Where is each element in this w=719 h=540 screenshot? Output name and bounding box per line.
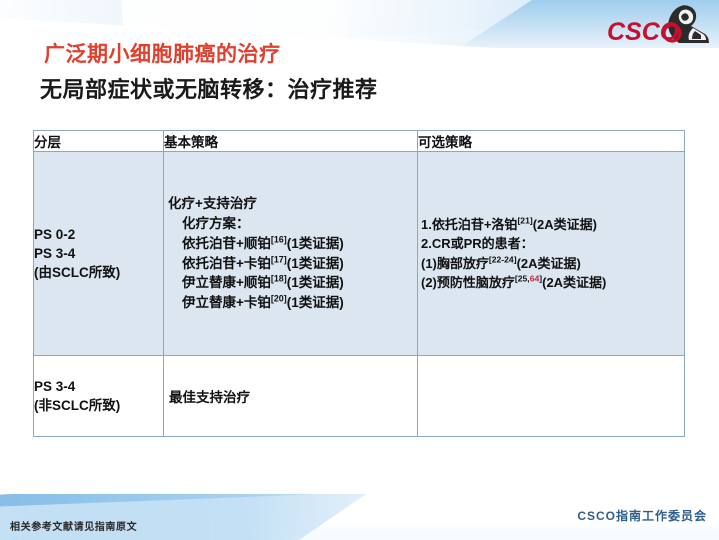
optional-prefix: (2) [421, 275, 437, 290]
cell-optional-strategy: 1.依托泊苷+洛铂[21](2A类证据) 2.CR或PR的患者： (1)胸部放疗… [418, 152, 685, 356]
optional-ref: [21] [517, 216, 532, 226]
stratum-lines: PS 0-2 PS 3-4 (由SCLC所致) [34, 225, 163, 282]
ref-highlight: 64 [530, 273, 540, 283]
stratum-lines: PS 3-4 (非SCLC所致) [34, 377, 163, 415]
stratum-line: PS 3-4 [34, 377, 163, 396]
basic-strategy-simple: 最佳支持治疗 [164, 386, 417, 406]
regimen-line: 依托泊苷+卡铂[17](1类证据) [168, 254, 417, 274]
optional-prefix: 2. [421, 236, 432, 251]
optional-line: (2)预防性脑放疗[25,64](2A类证据) [421, 273, 684, 292]
basic-strategy-subheading: 化疗方案： [168, 214, 417, 234]
regimen-line: 依托泊苷+顺铂[16](1类证据) [168, 234, 417, 254]
regimen-evidence: (1类证据) [287, 275, 344, 290]
table-row: PS 0-2 PS 3-4 (由SCLC所致) 化疗+支持治疗 化疗方案： 依托… [34, 152, 685, 356]
regimen-ref: [16] [271, 234, 287, 244]
optional-prefix: (1) [421, 256, 437, 271]
basic-strategy-block: 化疗+支持治疗 化疗方案： 依托泊苷+顺铂[16](1类证据) 依托泊苷+卡铂[… [164, 194, 417, 312]
regimen-line: 伊立替康+顺铂[18](1类证据) [168, 273, 417, 293]
stratum-line: PS 3-4 [34, 244, 163, 263]
optional-ref-mixed: [25,64] [515, 273, 542, 283]
cell-stratum-ps34: PS 3-4 (非SCLC所致) [34, 356, 164, 437]
optional-line: (1)胸部放疗[22-24](2A类证据) [421, 254, 684, 273]
stratum-line: (非SCLC所致) [34, 396, 163, 415]
optional-evidence: (2A类证据) [533, 217, 597, 232]
regimen-name: 伊立替康+顺铂 [182, 275, 271, 290]
optional-line: 2.CR或PR的患者： [421, 234, 684, 253]
regimen-ref: [18] [271, 274, 287, 284]
regimen-line: 伊立替康+卡铂[20](1类证据) [168, 293, 417, 313]
treatment-recommendation-table: 分层 基本策略 可选策略 PS 0-2 PS 3-4 (由SCLC所致) 化疗+… [33, 130, 685, 437]
column-header-basic-strategy: 基本策略 [164, 131, 418, 152]
cell-basic-strategy: 最佳支持治疗 [164, 356, 418, 437]
regimen-evidence: (1类证据) [287, 236, 344, 251]
footer-reference-note: 相关参考文献请见指南原文 [10, 518, 137, 533]
page-title-main: 广泛期小细胞肺癌的治疗 [44, 38, 281, 68]
slide-root: CSCO 广泛期小细胞肺癌的治疗 无局部症状或无脑转移：治疗推荐 分层 基本策略… [0, 0, 719, 540]
regimen-evidence: (1类证据) [287, 256, 344, 271]
optional-name: CR或PR的患者： [432, 236, 534, 251]
table-header-row: 分层 基本策略 可选策略 [34, 131, 685, 152]
optional-evidence: (2A类证据) [517, 256, 581, 271]
cell-basic-strategy: 化疗+支持治疗 化疗方案： 依托泊苷+顺铂[16](1类证据) 依托泊苷+卡铂[… [164, 152, 418, 356]
regimen-name: 依托泊苷+卡铂 [182, 256, 271, 271]
optional-name: 依托泊苷+洛铂 [432, 217, 518, 232]
table-row: PS 3-4 (非SCLC所致) 最佳支持治疗 [34, 356, 685, 437]
regimen-name: 伊立替康+卡铂 [182, 295, 271, 310]
optional-name: 预防性脑放疗 [437, 275, 515, 290]
column-header-stratum: 分层 [34, 131, 164, 152]
cell-optional-strategy [418, 356, 685, 437]
ref-plain: [25, [515, 273, 530, 283]
stratum-line: (由SCLC所致) [34, 263, 163, 282]
regimen-evidence: (1类证据) [287, 295, 344, 310]
regimen-name: 依托泊苷+顺铂 [182, 236, 271, 251]
page-title-sub: 无局部症状或无脑转移：治疗推荐 [40, 72, 378, 104]
optional-prefix: 1. [421, 217, 432, 232]
optional-name: 胸部放疗 [437, 256, 489, 271]
regimen-ref: [20] [271, 293, 287, 303]
optional-ref: [22-24] [489, 254, 517, 264]
cell-stratum-ps02: PS 0-2 PS 3-4 (由SCLC所致) [34, 152, 164, 356]
optional-evidence: (2A类证据) [542, 275, 606, 290]
stratum-line: PS 0-2 [34, 225, 163, 244]
optional-strategy-block: 1.依托泊苷+洛铂[21](2A类证据) 2.CR或PR的患者： (1)胸部放疗… [418, 215, 684, 291]
optional-line: 1.依托泊苷+洛铂[21](2A类证据) [421, 215, 684, 234]
basic-strategy-heading: 化疗+支持治疗 [168, 194, 417, 214]
column-header-optional-strategy: 可选策略 [418, 131, 685, 152]
footer-organization: CSCO指南工作委员会 [577, 507, 707, 524]
csco-logo: CSCO [605, 2, 711, 48]
regimen-ref: [17] [271, 254, 287, 264]
